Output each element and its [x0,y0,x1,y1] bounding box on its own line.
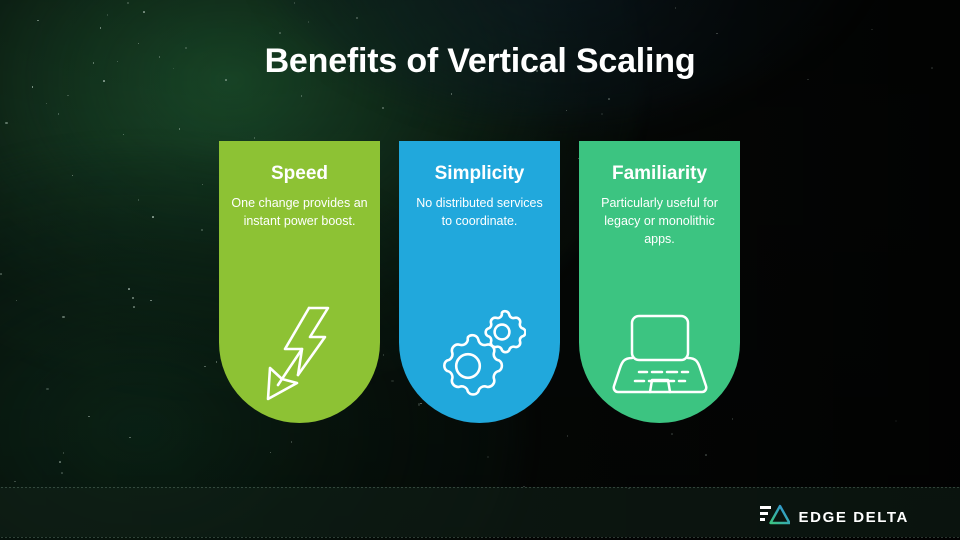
card-heading: Familiarity [579,163,740,185]
card-body-text: No distributed services to coordinate. [399,194,560,230]
laptop-icon [579,299,740,409]
footer-dotted-rule-bottom [0,537,960,538]
lightning-bolt-arrow-icon [219,299,380,409]
slide-canvas: Benefits of Vertical Scaling Speed One c… [0,0,960,540]
page-title: Benefits of Vertical Scaling [0,42,960,81]
card-heading: Simplicity [399,163,560,185]
edge-delta-logo[interactable]: EDGE DELTA [760,504,909,530]
footer-dotted-rule-top [0,487,960,488]
benefit-card-simplicity[interactable]: Simplicity No distributed services to co… [399,141,560,423]
benefit-card-list: Speed One change provides an instant pow… [219,141,741,423]
benefit-card-familiarity[interactable]: Familiarity Particularly useful for lega… [579,141,740,423]
card-body-text: One change provides an instant power boo… [219,194,380,230]
card-body-text: Particularly useful for legacy or monoli… [579,194,740,248]
gears-icon [399,299,560,409]
benefit-card-speed[interactable]: Speed One change provides an instant pow… [219,141,380,423]
edge-delta-wordmark: EDGE DELTA [799,509,909,526]
card-heading: Speed [219,163,380,185]
edge-delta-logo-mark-icon [760,504,790,530]
